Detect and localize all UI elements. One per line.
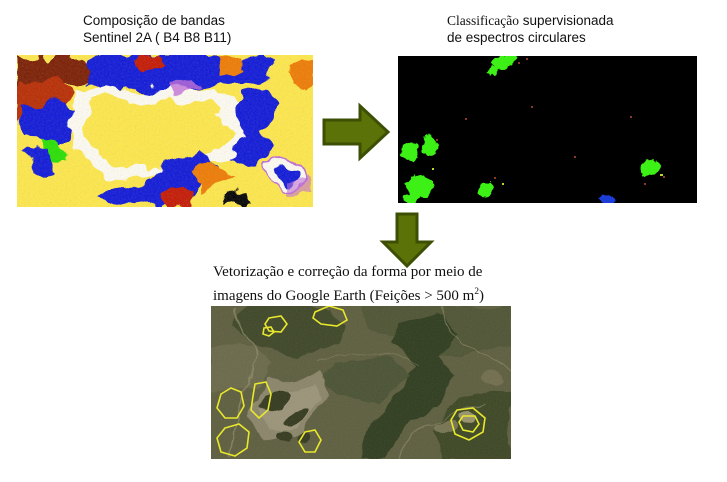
image-sentinel-composite bbox=[17, 55, 313, 207]
image-supervised-classification bbox=[398, 56, 697, 203]
caption-bottom-line2-pre: imagens do Google Earth (Feições > 500 m bbox=[213, 288, 474, 304]
caption-right-line2: de espectros circulares bbox=[447, 30, 586, 45]
caption-bottom-line1: Vetorização e correção da forma por meio… bbox=[213, 264, 482, 280]
caption-right-word-classificacao: Classificação bbox=[447, 13, 519, 28]
caption-classificacao-supervisionada: Classificação supervisionadade espectros… bbox=[447, 12, 614, 46]
flow-arrow-right-icon bbox=[320, 100, 392, 164]
composite-raster bbox=[17, 55, 313, 207]
image-google-earth-vectorization bbox=[211, 306, 511, 459]
classification-raster bbox=[398, 56, 697, 203]
google-earth-raster bbox=[211, 306, 511, 459]
caption-right-word-supervisionada: supervisionada bbox=[519, 13, 614, 28]
caption-bottom-line2-post: ) bbox=[479, 288, 484, 304]
caption-vetorizacao-correcao: Vetorização e correção da forma por meio… bbox=[213, 262, 484, 306]
caption-composicao-de-bandas: Composição de bandas Sentinel 2A ( B4 B8… bbox=[83, 12, 231, 46]
flow-arrow-down-icon bbox=[375, 212, 439, 268]
